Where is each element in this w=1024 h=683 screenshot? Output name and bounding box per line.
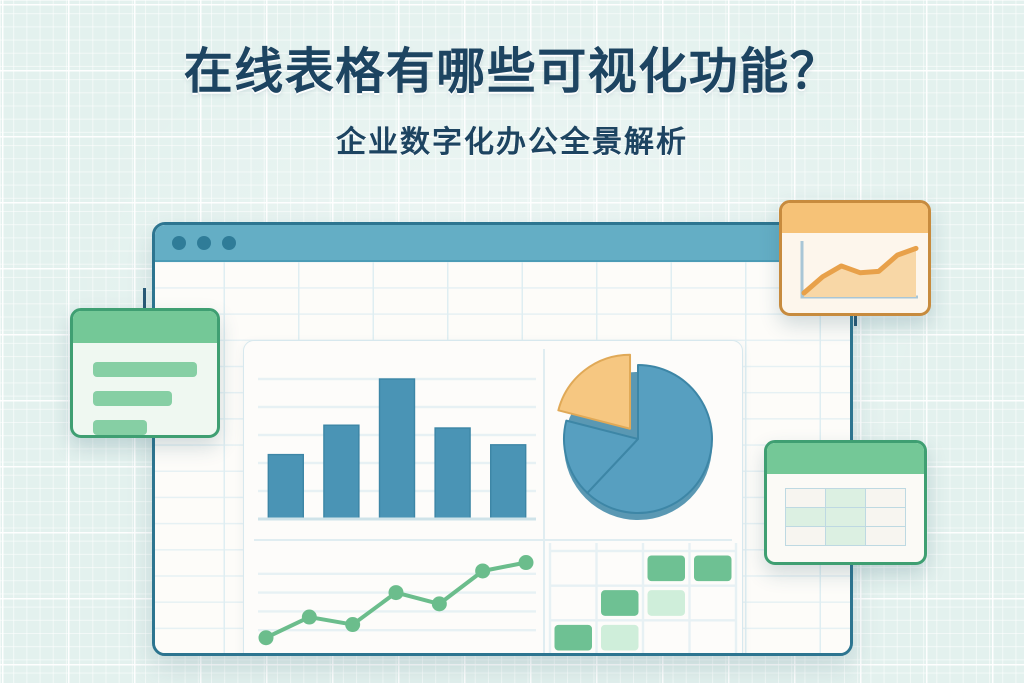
window-dot-3-icon[interactable] bbox=[222, 236, 236, 250]
mini-table[interactable] bbox=[785, 488, 906, 546]
line-point-4 bbox=[389, 585, 404, 600]
poster-canvas: 在线表格有哪些可视化功能？ 企业数字化办公全景解析 bbox=[0, 0, 1024, 683]
heatmap-chart[interactable] bbox=[550, 543, 736, 656]
mini-table-row bbox=[786, 527, 906, 546]
window-dot-1-icon[interactable] bbox=[172, 236, 186, 250]
heat-cell-R2-C2 bbox=[601, 590, 639, 616]
dashboard-horizontal-divider bbox=[254, 539, 732, 541]
mini-table-cell-1-2[interactable] bbox=[866, 508, 906, 527]
mini-table-cell-2-2[interactable] bbox=[866, 527, 906, 546]
bar-2 bbox=[324, 425, 359, 519]
bar-chart[interactable] bbox=[258, 351, 536, 533]
list-card[interactable] bbox=[70, 308, 220, 438]
pie-chart-slices bbox=[558, 355, 712, 520]
area-chart-card-body bbox=[782, 233, 928, 313]
line-point-6 bbox=[475, 563, 490, 578]
bar-1 bbox=[268, 455, 303, 519]
heat-cell-R3-C1 bbox=[555, 625, 593, 651]
bar-3 bbox=[380, 379, 415, 519]
mini-table-cell-0-2[interactable] bbox=[866, 489, 906, 508]
pie-chart[interactable] bbox=[550, 351, 736, 533]
list-card-row-short bbox=[93, 420, 147, 435]
area-chart-icon bbox=[782, 233, 928, 313]
mini-table-cell-2-0[interactable] bbox=[786, 527, 826, 546]
window-dot-2-icon[interactable] bbox=[197, 236, 211, 250]
heat-cell-R1-C3 bbox=[648, 556, 686, 582]
mini-table-cell-0-1[interactable] bbox=[826, 489, 866, 508]
pie-slice-2 bbox=[558, 355, 630, 429]
bar-5 bbox=[491, 445, 526, 519]
list-card-row-full bbox=[93, 362, 197, 377]
mini-table-cell-1-1[interactable] bbox=[826, 508, 866, 527]
mini-table-cell-2-1[interactable] bbox=[826, 527, 866, 546]
area-chart-card[interactable] bbox=[779, 200, 931, 316]
window-titlebar[interactable] bbox=[155, 225, 850, 262]
line-point-3 bbox=[345, 617, 360, 632]
headline-block: 在线表格有哪些可视化功能？ 企业数字化办公全景解析 bbox=[0, 44, 1024, 161]
list-card-header bbox=[73, 311, 217, 343]
dashboard-vertical-divider bbox=[543, 349, 545, 656]
dashboard-panel bbox=[243, 340, 743, 656]
table-card-header bbox=[767, 443, 924, 474]
table-card-body bbox=[767, 474, 924, 562]
spreadsheet-grid[interactable] bbox=[155, 262, 850, 653]
heat-cell-R3-C2 bbox=[601, 625, 639, 651]
list-card-row-medium bbox=[93, 391, 172, 406]
line-point-5 bbox=[432, 596, 447, 611]
line-chart[interactable] bbox=[258, 543, 536, 656]
table-card[interactable] bbox=[764, 440, 927, 565]
mini-table-cell-1-0[interactable] bbox=[786, 508, 826, 527]
spreadsheet-window[interactable] bbox=[152, 222, 853, 656]
heat-cell-R2-C3 bbox=[648, 590, 686, 616]
page-title: 在线表格有哪些可视化功能？ bbox=[0, 44, 1024, 101]
line-point-7 bbox=[519, 555, 534, 570]
line-point-1 bbox=[259, 630, 274, 645]
line-point-2 bbox=[302, 610, 317, 625]
bar-4 bbox=[435, 428, 470, 519]
heat-cell-R1-C4 bbox=[694, 556, 732, 582]
bar-chart-bars bbox=[268, 379, 525, 519]
list-card-body bbox=[73, 343, 217, 435]
area-chart-card-header bbox=[782, 203, 928, 233]
mini-table-cell-0-0[interactable] bbox=[786, 489, 826, 508]
page-subtitle: 企业数字化办公全景解析 bbox=[0, 117, 1024, 161]
mini-table-row bbox=[786, 489, 906, 508]
mini-table-row bbox=[786, 508, 906, 527]
